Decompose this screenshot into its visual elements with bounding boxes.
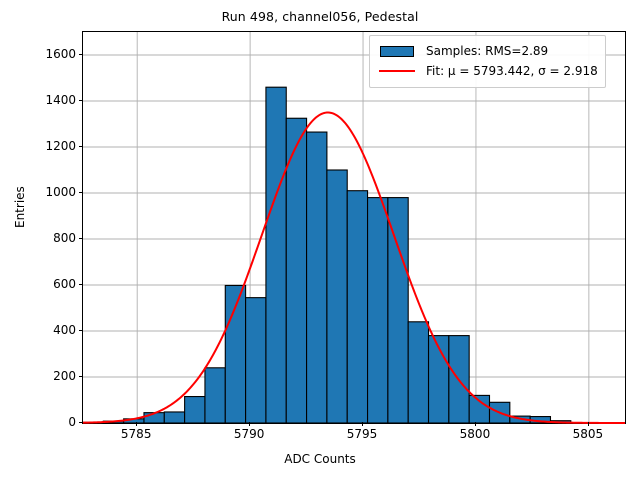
y-tick-label: 0 <box>68 415 76 429</box>
legend-patch-icon <box>377 44 417 58</box>
y-tick-label: 1000 <box>45 185 76 199</box>
x-axis-label: ADC Counts <box>0 452 640 466</box>
y-tick-label: 1400 <box>45 93 76 107</box>
y-axis-label: Entries <box>13 186 27 228</box>
y-tick-label: 600 <box>53 277 76 291</box>
legend-entry-samples: Samples: RMS=2.89 <box>377 41 598 61</box>
y-tick-label: 1200 <box>45 139 76 153</box>
x-tick-label: 5800 <box>460 427 491 441</box>
x-tick-label: 5805 <box>573 427 604 441</box>
y-tick-label: 400 <box>53 323 76 337</box>
figure-canvas: Run 498, channel056, Pedestal 0200400600… <box>0 0 640 480</box>
y-tick-label: 1600 <box>45 47 76 61</box>
legend-entry-fit: Fit: μ = 5793.442, σ = 2.918 <box>377 61 598 81</box>
legend-line-icon <box>377 64 417 78</box>
legend-box: Samples: RMS=2.89 Fit: μ = 5793.442, σ =… <box>369 35 606 88</box>
chart-title: Run 498, channel056, Pedestal <box>0 9 640 24</box>
legend-label-samples: Samples: RMS=2.89 <box>426 44 548 58</box>
x-tick-label: 5785 <box>121 427 152 441</box>
y-tick-label: 800 <box>53 231 76 245</box>
x-tick-label: 5790 <box>234 427 265 441</box>
x-tick-label: 5795 <box>347 427 378 441</box>
plot-area <box>82 31 626 424</box>
gaussian-fit-curve <box>83 32 625 423</box>
y-tick-label: 200 <box>53 369 76 383</box>
legend-label-fit: Fit: μ = 5793.442, σ = 2.918 <box>426 64 598 78</box>
